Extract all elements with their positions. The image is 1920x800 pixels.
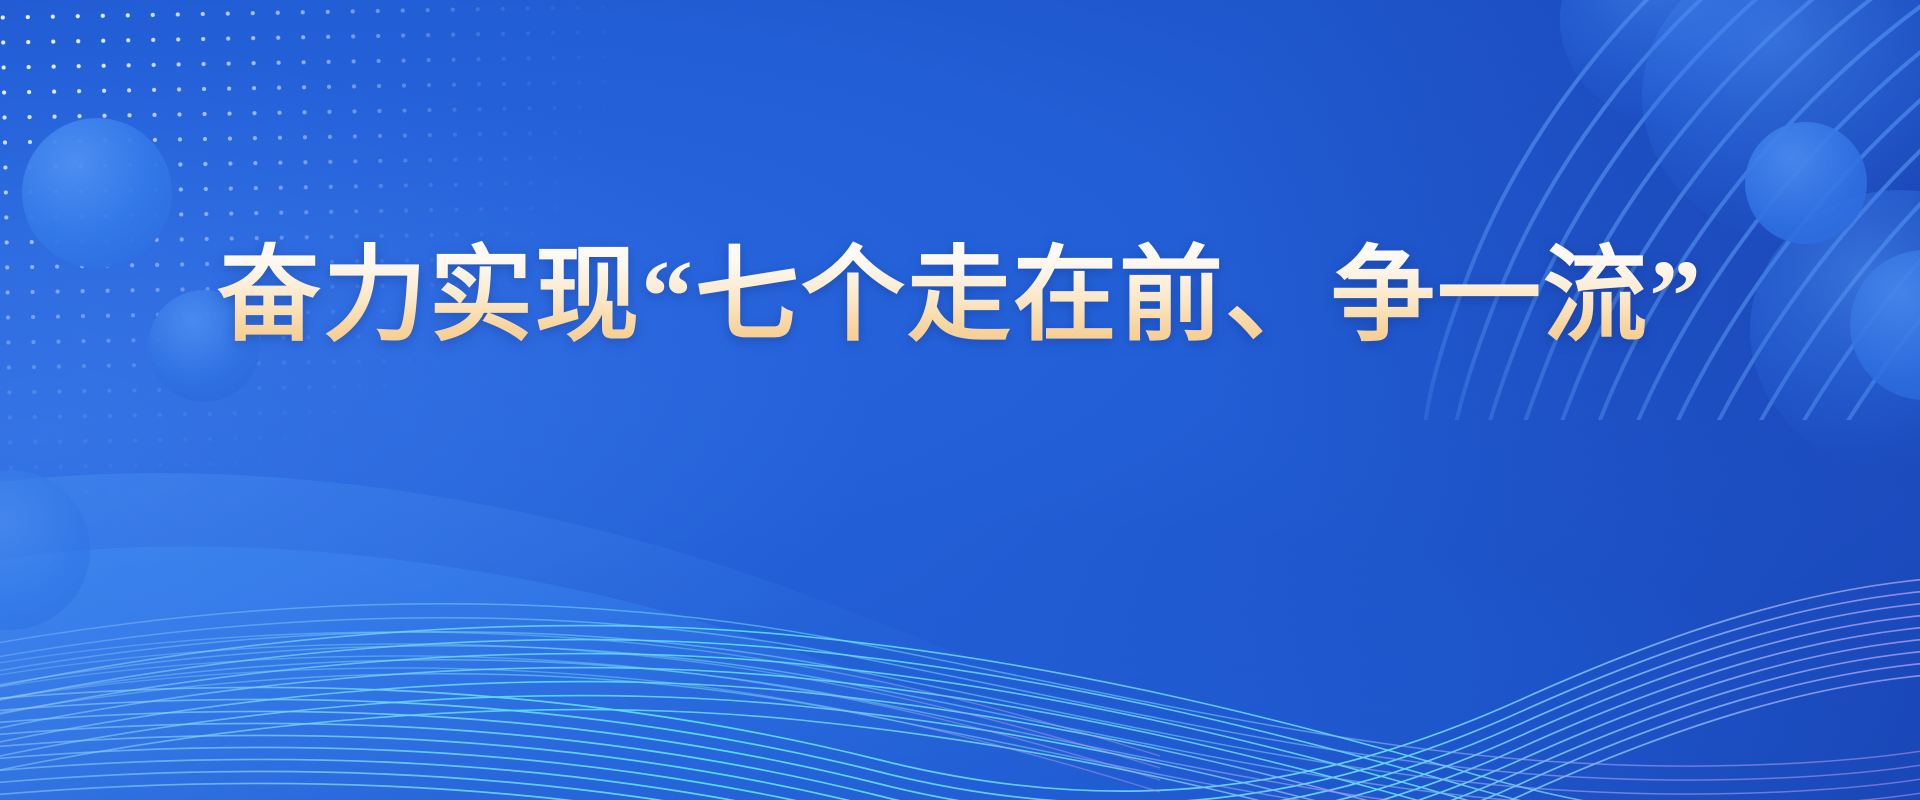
flowing-wave-lines: [0, 0, 1920, 800]
title-container: 奋力实现“七个走在前、争一流”: [0, 236, 1920, 359]
banner-canvas: 奋力实现“七个走在前、争一流”: [0, 0, 1920, 800]
banner-title: 奋力实现“七个走在前、争一流”: [217, 236, 1703, 359]
